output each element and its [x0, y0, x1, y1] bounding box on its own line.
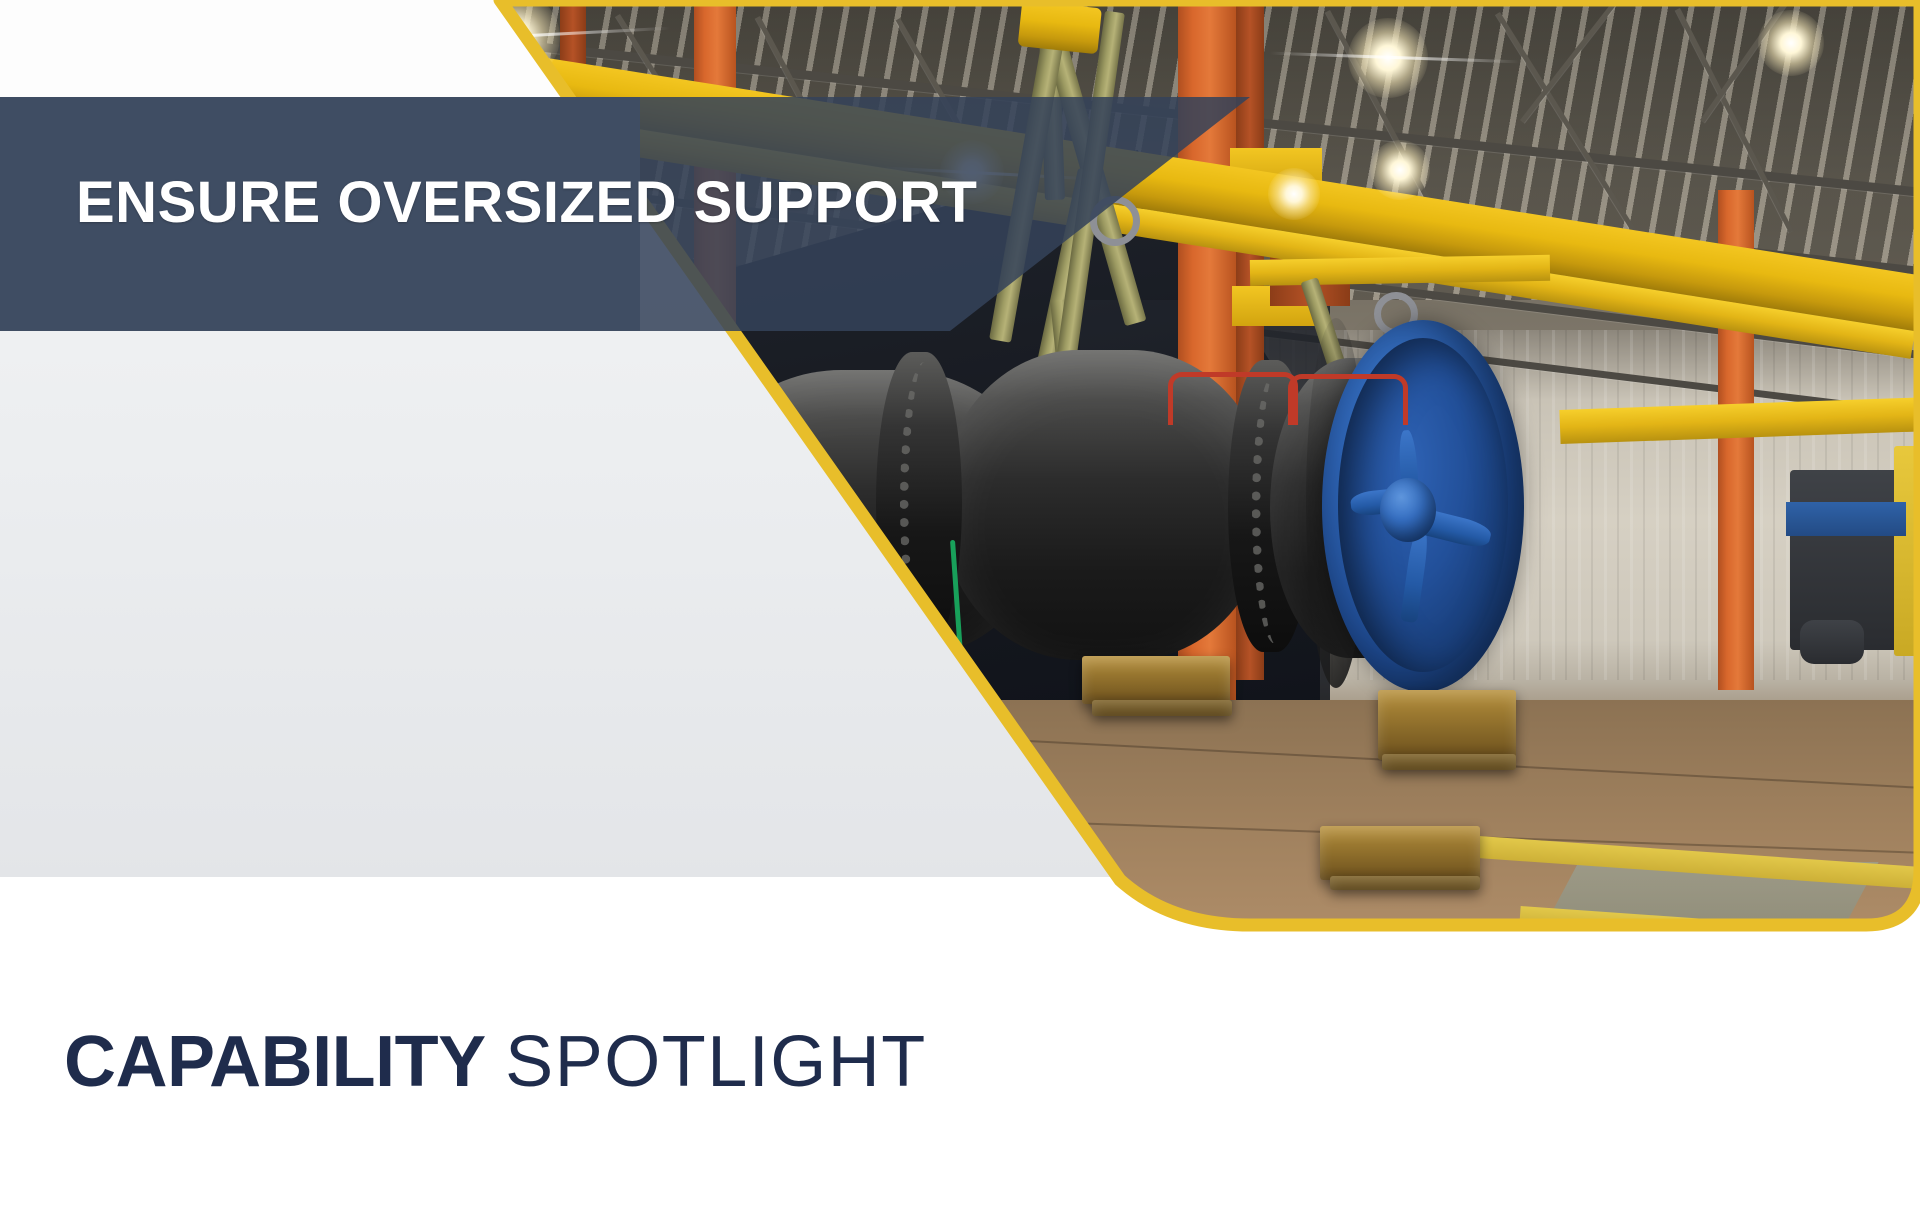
timber-cribbing — [1378, 690, 1516, 760]
safety-rail — [1168, 372, 1298, 425]
timber-cribbing — [1092, 700, 1232, 716]
page-title: ENSURE OVERSIZED SUPPORT — [76, 174, 1176, 232]
wall-crane-rail — [1250, 255, 1550, 286]
timber-cribbing — [1320, 826, 1480, 880]
high-bay-light — [1370, 140, 1430, 200]
forklift-side-panel — [1786, 502, 1906, 536]
timber-cribbing — [1082, 656, 1230, 704]
crane-hook-block — [1018, 0, 1102, 54]
impeller-hub — [1380, 478, 1436, 542]
timber-cribbing — [1330, 876, 1480, 890]
high-bay-light — [1758, 10, 1824, 76]
lockup-space — [486, 1022, 506, 1102]
forklift-mast — [1894, 446, 1920, 656]
poster-canvas: ENSURE OVERSIZED SUPPORT CAPABILITY SPOT… — [0, 0, 1920, 1206]
high-bay-light — [1268, 168, 1320, 220]
capability-spotlight-lockup: CAPABILITY SPOTLIGHT — [64, 1026, 927, 1098]
lockup-strong-word: CAPABILITY — [64, 1022, 486, 1102]
forklift-wheel — [1800, 620, 1864, 664]
lockup-light-word: SPOTLIGHT — [505, 1022, 927, 1102]
safety-rail — [1288, 374, 1408, 425]
timber-cribbing — [1382, 754, 1516, 770]
